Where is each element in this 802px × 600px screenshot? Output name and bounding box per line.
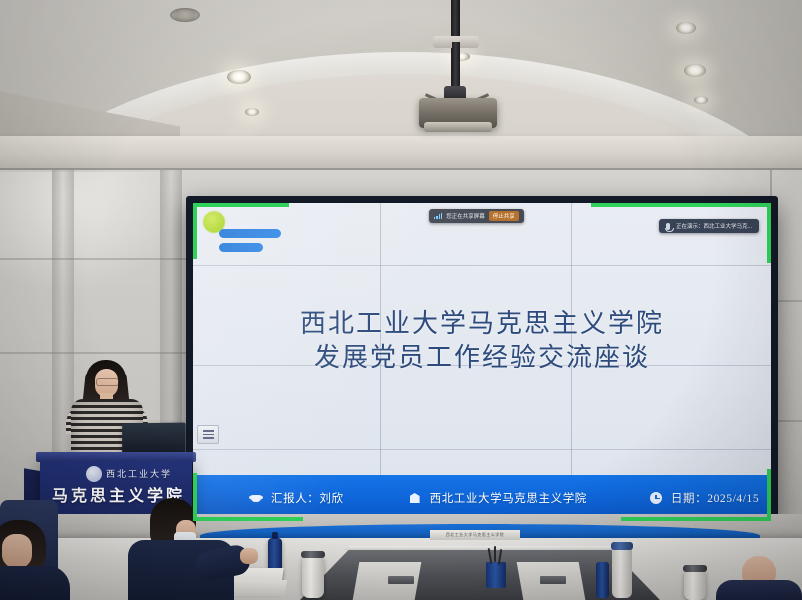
attendee-hand [240,548,258,564]
footer-institution: 西北工业大学马克思主义学院 [408,490,587,506]
stop-share-button[interactable]: 停止共享 [489,211,519,221]
downlight-icon [227,70,251,84]
panel-seam [193,265,771,266]
share-status-label: 您正在共享屏幕 [446,212,485,220]
downlight-icon [694,96,708,104]
institution-icon [408,491,422,505]
share-border-right-top [767,203,771,263]
menu-icon[interactable] [197,425,219,444]
ceiling [0,0,802,175]
footer-presenter-text: 汇报人：刘欣 [271,490,344,506]
panel-seam [193,449,771,450]
podium-top [36,452,196,462]
downlight-icon [676,22,696,34]
downlight-icon [170,8,200,22]
tall-cup [612,548,632,598]
pen-holder [486,562,506,588]
table-edge [300,546,660,550]
wall-seam [0,258,186,260]
table-cable-plate [388,576,414,584]
video-wall-display[interactable]: 您正在共享屏幕 停止共享 正在演示：西北工业大学马克... 西北工业大学马克思主… [186,196,778,528]
share-border-left-bottom [193,473,197,521]
presenting-label: 正在演示：西北工业大学马克... [676,222,752,230]
display-screen[interactable]: 您正在共享屏幕 停止共享 正在演示：西北工业大学马克... 西北工业大学马克思主… [193,203,771,521]
table-cable-plate [540,576,566,584]
logo-bar-icon [219,229,281,238]
logo-bar-icon [219,243,263,252]
slide-title-line-2: 发展党员工作经验交流座谈 [193,341,771,375]
downlight-icon [684,64,706,77]
clock-icon [649,491,663,505]
share-border-top-left [193,203,289,207]
university-crest-icon [86,466,102,482]
graduation-cap-icon [249,491,263,505]
share-border-left-top [193,203,197,259]
ceiling-band [0,136,802,170]
screen-share-status-chip[interactable]: 您正在共享屏幕 停止共享 [429,209,524,223]
conference-room-photo: 您正在共享屏幕 停止共享 正在演示：西北工业大学马克... 西北工业大学马克思主… [0,0,802,600]
footer-presenter: 汇报人：刘欣 [249,490,344,506]
attendee-body [0,566,70,600]
share-border-right-bottom [767,469,771,521]
share-border-top-right [591,203,771,207]
attendee-face [2,534,32,568]
wall-seam [0,352,186,354]
signal-bars-icon [434,213,442,219]
travel-mug [684,570,706,600]
footer-date: 日期：2025/4/15 [649,490,759,506]
downlight-icon [245,108,259,116]
presenter-glasses [96,378,119,386]
slide-title-line-1: 西北工业大学马克思主义学院 [193,307,771,341]
presenting-status-chip[interactable]: 正在演示：西北工业大学马克... [659,219,759,233]
blue-cup [596,562,609,598]
footer-institution-text: 西北工业大学马克思主义学院 [430,490,587,506]
microphone-icon [666,223,670,230]
share-border-bottom-right [621,517,771,521]
slide-title: 西北工业大学马克思主义学院 发展党员工作经验交流座谈 [193,307,771,376]
footer-date-text: 日期：2025/4/15 [671,490,759,506]
attendee-body [716,580,802,600]
travel-mug [302,556,324,598]
podium-university-name: 西北工业大学 [106,467,172,480]
share-border-bottom-left [193,517,303,521]
table-placard: 西北工业大学马克思主义学院 [430,530,520,540]
